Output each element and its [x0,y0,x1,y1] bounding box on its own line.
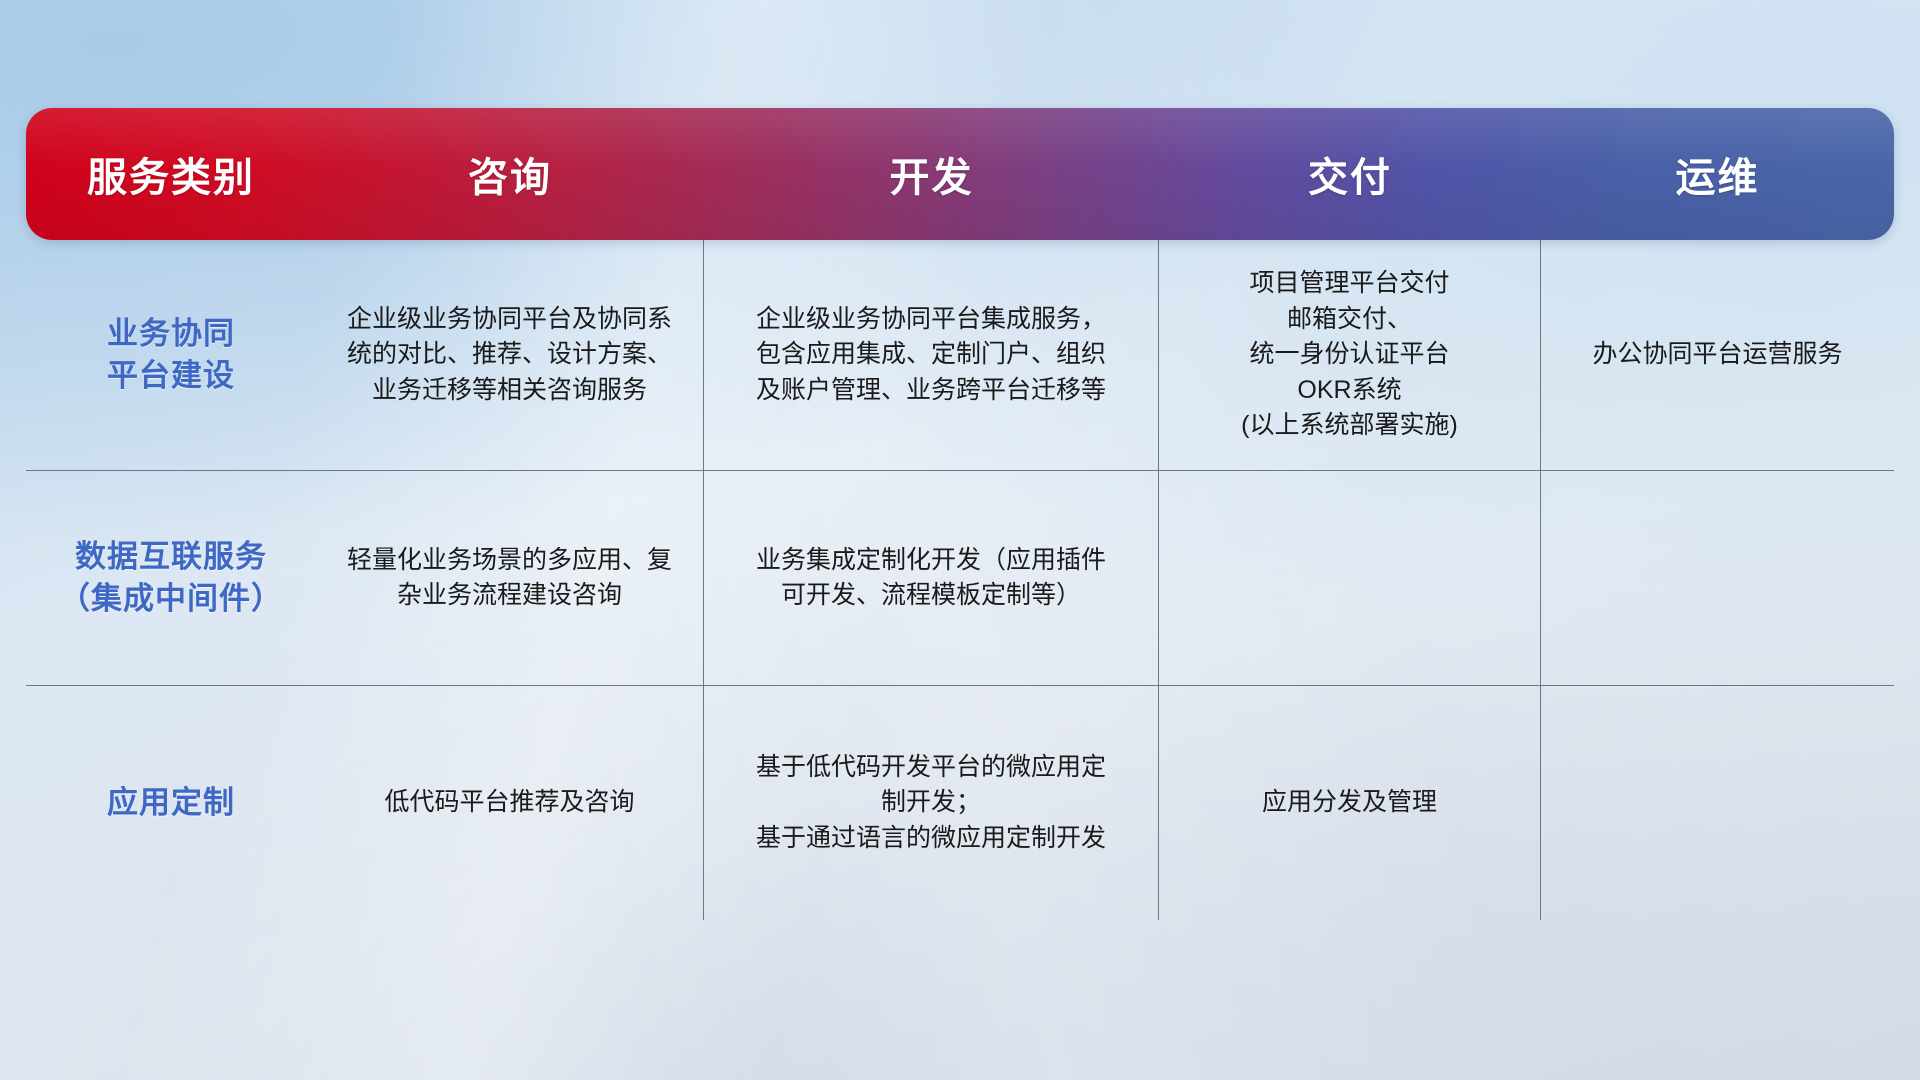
cell-text: 业务集成定制化开发（应用插件 可开发、流程模板定制等） [722,543,1140,614]
row-category-label: 数据互联服务 （集成中间件） [26,471,316,686]
column-header-label: 交付 [1159,145,1541,203]
table-body: 业务协同 平台建设 企业级业务协同平台及协同系 统的对比、推荐、设计方案、 业务… [26,240,1894,920]
table-row: 业务协同 平台建设 企业级业务协同平台及协同系 统的对比、推荐、设计方案、 业务… [26,240,1894,471]
cell-delivery [1159,471,1541,686]
cell-text: 应用定制 [44,782,298,824]
cell-text: 低代码平台推荐及咨询 [334,785,685,821]
table-row: 数据互联服务 （集成中间件） 轻量化业务场景的多应用、复 杂业务流程建设咨询 业… [26,471,1894,686]
column-header-label: 开发 [704,145,1159,203]
cell-delivery: 项目管理平台交付 邮箱交付、 统一身份认证平台 OKR系统 (以上系统部署实施) [1159,240,1541,471]
cell-text: 企业级业务协同平台及协同系 统的对比、推荐、设计方案、 业务迁移等相关咨询服务 [334,302,685,409]
cell-text: 基于低代码开发平台的微应用定 制开发； 基于通过语言的微应用定制开发 [722,750,1140,857]
cell-consulting: 企业级业务协同平台及协同系 统的对比、推荐、设计方案、 业务迁移等相关咨询服务 [316,240,704,471]
cell-development: 业务集成定制化开发（应用插件 可开发、流程模板定制等） [704,471,1159,686]
column-header-label: 运维 [1541,145,1894,203]
cell-consulting: 轻量化业务场景的多应用、复 杂业务流程建设咨询 [316,471,704,686]
cell-text: 业务协同 平台建设 [44,313,298,397]
table-row: 应用定制 低代码平台推荐及咨询 基于低代码开发平台的微应用定 制开发； 基于通过… [26,686,1894,920]
cell-text: 项目管理平台交付 邮箱交付、 统一身份认证平台 OKR系统 (以上系统部署实施) [1177,266,1522,444]
column-header-label: 咨询 [316,145,704,203]
cell-delivery: 应用分发及管理 [1159,686,1541,920]
cell-development: 基于低代码开发平台的微应用定 制开发； 基于通过语言的微应用定制开发 [704,686,1159,920]
row-category-label: 业务协同 平台建设 [26,240,316,471]
cell-text: 办公协同平台运营服务 [1559,337,1876,373]
cell-text: 轻量化业务场景的多应用、复 杂业务流程建设咨询 [334,543,685,614]
cell-operations [1541,471,1894,686]
cell-operations: 办公协同平台运营服务 [1541,240,1894,471]
row-category-label: 应用定制 [26,686,316,920]
cell-operations [1541,686,1894,920]
cell-consulting: 低代码平台推荐及咨询 [316,686,704,920]
cell-text: 应用分发及管理 [1177,785,1522,821]
page-canvas: 服务类别 咨询 开发 交付 运维 [0,0,1920,1080]
column-header-label: 服务类别 [26,145,316,203]
cell-development: 企业级业务协同平台集成服务， 包含应用集成、定制门户、组织 及账户管理、业务跨平… [704,240,1159,471]
cell-text: 数据互联服务 （集成中间件） [44,536,298,620]
cell-text: 企业级业务协同平台集成服务， 包含应用集成、定制门户、组织 及账户管理、业务跨平… [722,302,1140,409]
